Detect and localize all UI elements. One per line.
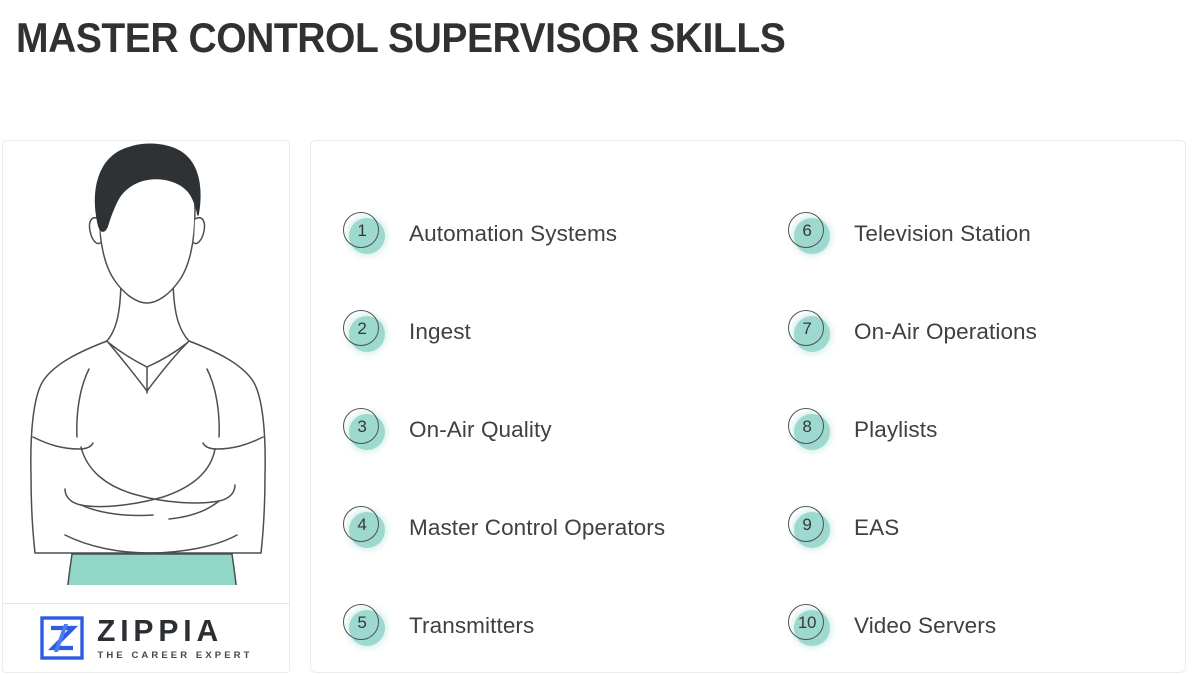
badge-number: 1: [343, 212, 381, 250]
list-item[interactable]: 4 Master Control Operators: [343, 479, 748, 577]
skill-number-badge: 5: [343, 604, 387, 648]
list-item[interactable]: 3 On-Air Quality: [343, 381, 748, 479]
badge-number: 5: [343, 604, 381, 642]
skill-number-badge: 6: [788, 212, 832, 256]
list-item[interactable]: 8 Playlists: [788, 381, 1185, 479]
badge-number: 9: [788, 506, 826, 544]
badge-number: 8: [788, 408, 826, 446]
list-item[interactable]: 9 EAS: [788, 479, 1185, 577]
skills-panel: 1 Automation Systems 2 Ingest 3 On-Air: [310, 140, 1186, 673]
skill-number-badge: 2: [343, 310, 387, 354]
skill-label: Playlists: [854, 417, 937, 443]
skill-label: Master Control Operators: [409, 515, 665, 541]
list-item[interactable]: 1 Automation Systems: [343, 185, 748, 283]
skill-label: Television Station: [854, 221, 1031, 247]
skill-label: On-Air Quality: [409, 417, 552, 443]
list-item[interactable]: 6 Television Station: [788, 185, 1185, 283]
skill-number-badge: 9: [788, 506, 832, 550]
skills-column-right: 6 Television Station 7 On-Air Operations…: [748, 141, 1185, 672]
skill-label: EAS: [854, 515, 899, 541]
skill-number-badge: 1: [343, 212, 387, 256]
badge-number: 7: [788, 310, 826, 348]
list-item[interactable]: 10 Video Servers: [788, 577, 1185, 675]
badge-number: 2: [343, 310, 381, 348]
illustration-card: ZIPPIA THE CAREER EXPERT: [2, 140, 290, 673]
skill-number-badge: 7: [788, 310, 832, 354]
list-item[interactable]: 2 Ingest: [343, 283, 748, 381]
skill-number-badge: 3: [343, 408, 387, 452]
skill-label: Automation Systems: [409, 221, 617, 247]
zippia-z-mark-icon: [39, 615, 85, 661]
person-with-crossed-arms-illustration: [3, 140, 290, 585]
badge-number: 10: [788, 604, 826, 642]
badge-number: 3: [343, 408, 381, 446]
badge-number: 6: [788, 212, 826, 250]
skill-label: Video Servers: [854, 613, 996, 639]
skill-number-badge: 8: [788, 408, 832, 452]
list-item[interactable]: 5 Transmitters: [343, 577, 748, 675]
skills-column-left: 1 Automation Systems 2 Ingest 3 On-Air: [311, 141, 748, 672]
skill-label: Transmitters: [409, 613, 534, 639]
page-title: MASTER CONTROL SUPERVISOR SKILLS: [16, 14, 785, 62]
skill-label: On-Air Operations: [854, 319, 1037, 345]
skill-label: Ingest: [409, 319, 471, 345]
skill-number-badge: 4: [343, 506, 387, 550]
zippia-tagline: THE CAREER EXPERT: [97, 651, 252, 661]
list-item[interactable]: 7 On-Air Operations: [788, 283, 1185, 381]
badge-number: 4: [343, 506, 381, 544]
zippia-wordmark: ZIPPIA: [97, 615, 223, 646]
zippia-logo[interactable]: ZIPPIA THE CAREER EXPERT: [3, 604, 289, 672]
skill-number-badge: 10: [788, 604, 832, 648]
